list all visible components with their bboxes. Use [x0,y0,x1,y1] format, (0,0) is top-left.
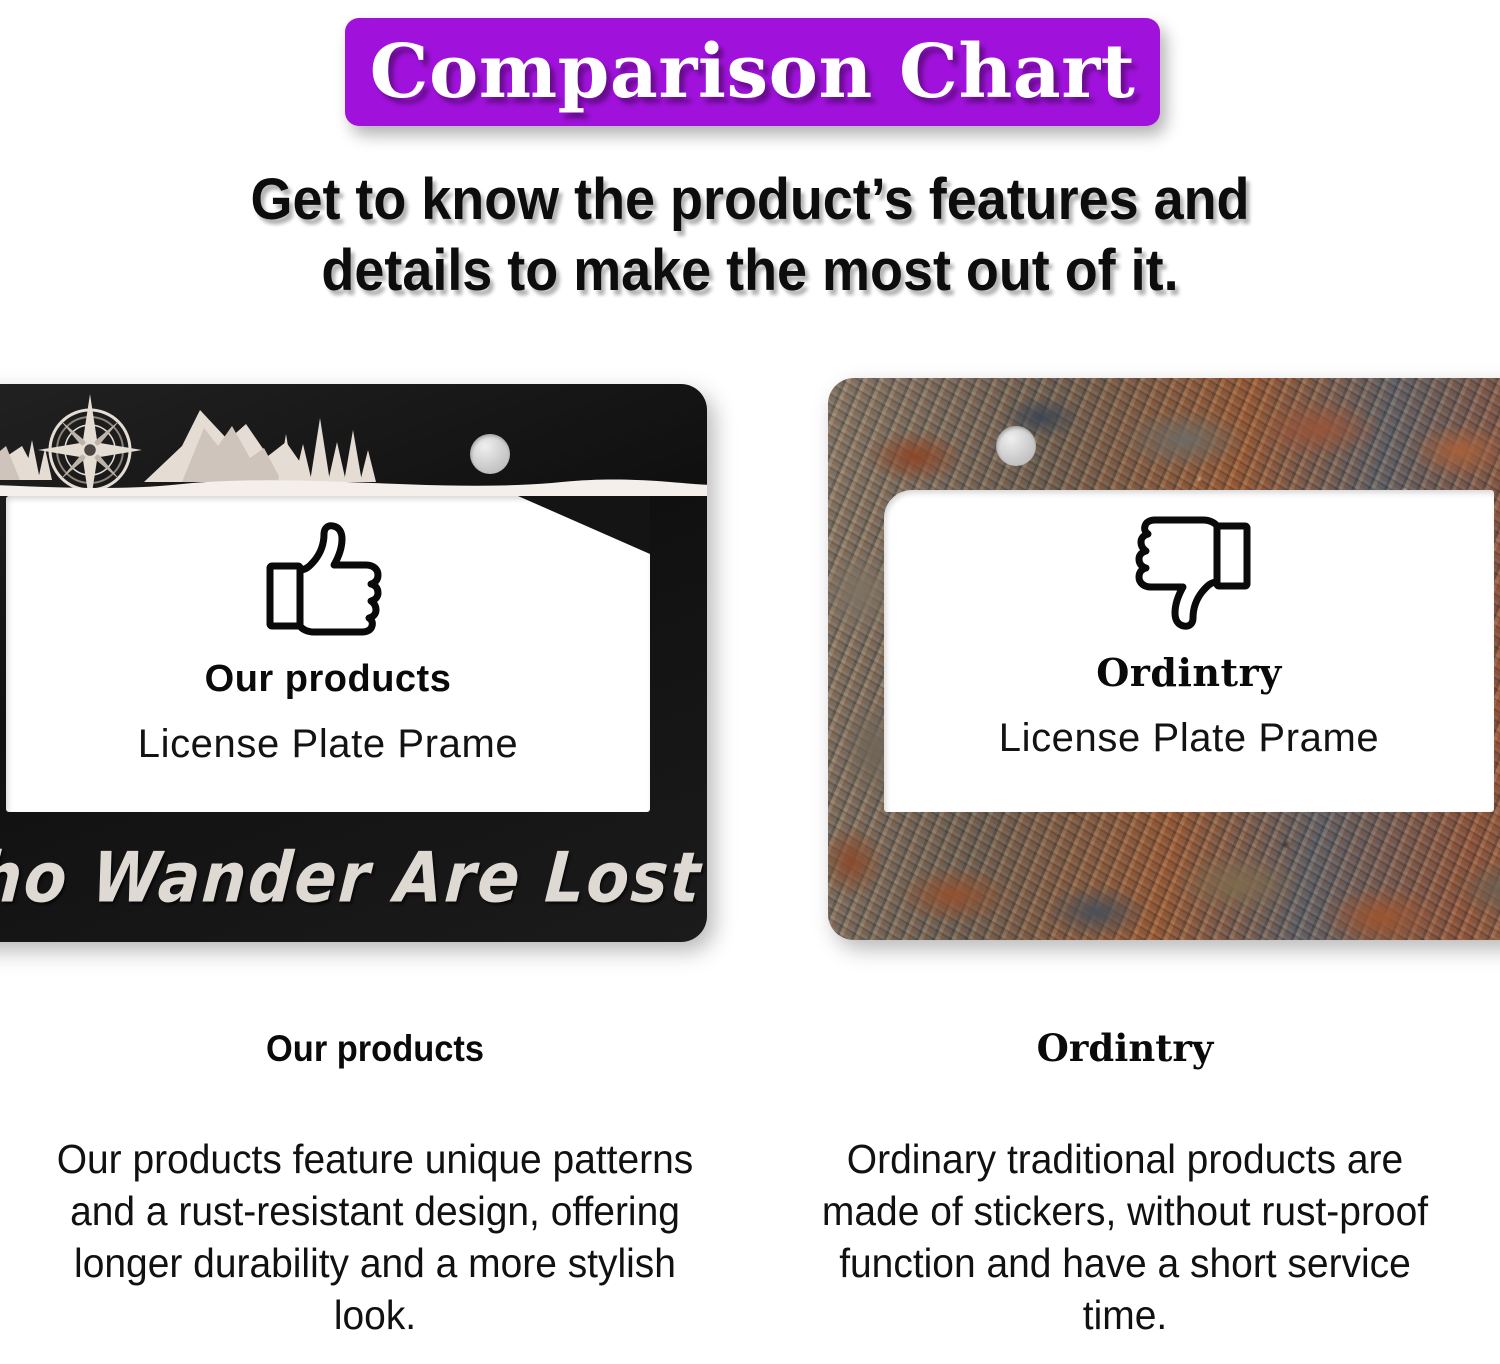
plate-window-chamfer [518,496,650,554]
mounting-hole-icon [470,434,510,474]
ordinary-summary-column: Ordintry Ordinary traditional products a… [750,1030,1500,1364]
pine-tree-icon [344,430,362,482]
ordinary-summary-heading: Ordintry [788,1030,1462,1067]
product-frames-row: ho Wander Are Lost Our products License … [0,370,1500,970]
page-title: Comparison Chart [370,35,1136,109]
our-product-summary-column: Our products Our products feature unique… [0,1030,750,1364]
page-subtitle-line-1: Get to know the product’s features and [53,165,1448,236]
ordinary-window-subtitle: License Plate Prame [999,718,1379,758]
ordinary-window-title: Ordintry [1096,654,1281,692]
page-subtitle: Get to know the product’s features and d… [53,165,1448,307]
thumbs-down-icon [1123,514,1255,632]
thumbs-up-icon [262,520,394,638]
our-product-license-plate-frame: ho Wander Are Lost Our products License … [0,384,707,942]
our-product-window-subtitle: License Plate Prame [138,724,518,764]
our-product-window-title: Our products [205,660,452,698]
page-subtitle-line-2: details to make the most out of it. [53,236,1448,307]
pine-tree-icon [360,450,376,482]
mountain-scene-svg [0,384,707,496]
pine-tree-icon [310,418,330,482]
comparison-summary-row: Our products Our products feature unique… [0,1030,1500,1364]
mountain-compass-artwork [0,384,707,496]
ordinary-summary-body: Ordinary traditional products are made o… [805,1133,1445,1341]
frame-slogan: ho Wander Are Lost [0,812,707,942]
comparison-chart-banner: Comparison Chart [345,18,1160,126]
our-product-summary-body: Our products feature unique patterns and… [55,1133,695,1341]
ordinary-license-plate-frame: Ordintry License Plate Prame [828,378,1500,940]
mounting-hole-icon [996,426,1036,466]
plate-window-chamfer [884,490,1016,548]
compass-rose-icon [38,394,142,496]
our-product-summary-heading: Our products [62,1030,689,1067]
pine-tree-icon [328,442,346,482]
frame-slogan-text: ho Wander Are Lost [0,836,705,918]
